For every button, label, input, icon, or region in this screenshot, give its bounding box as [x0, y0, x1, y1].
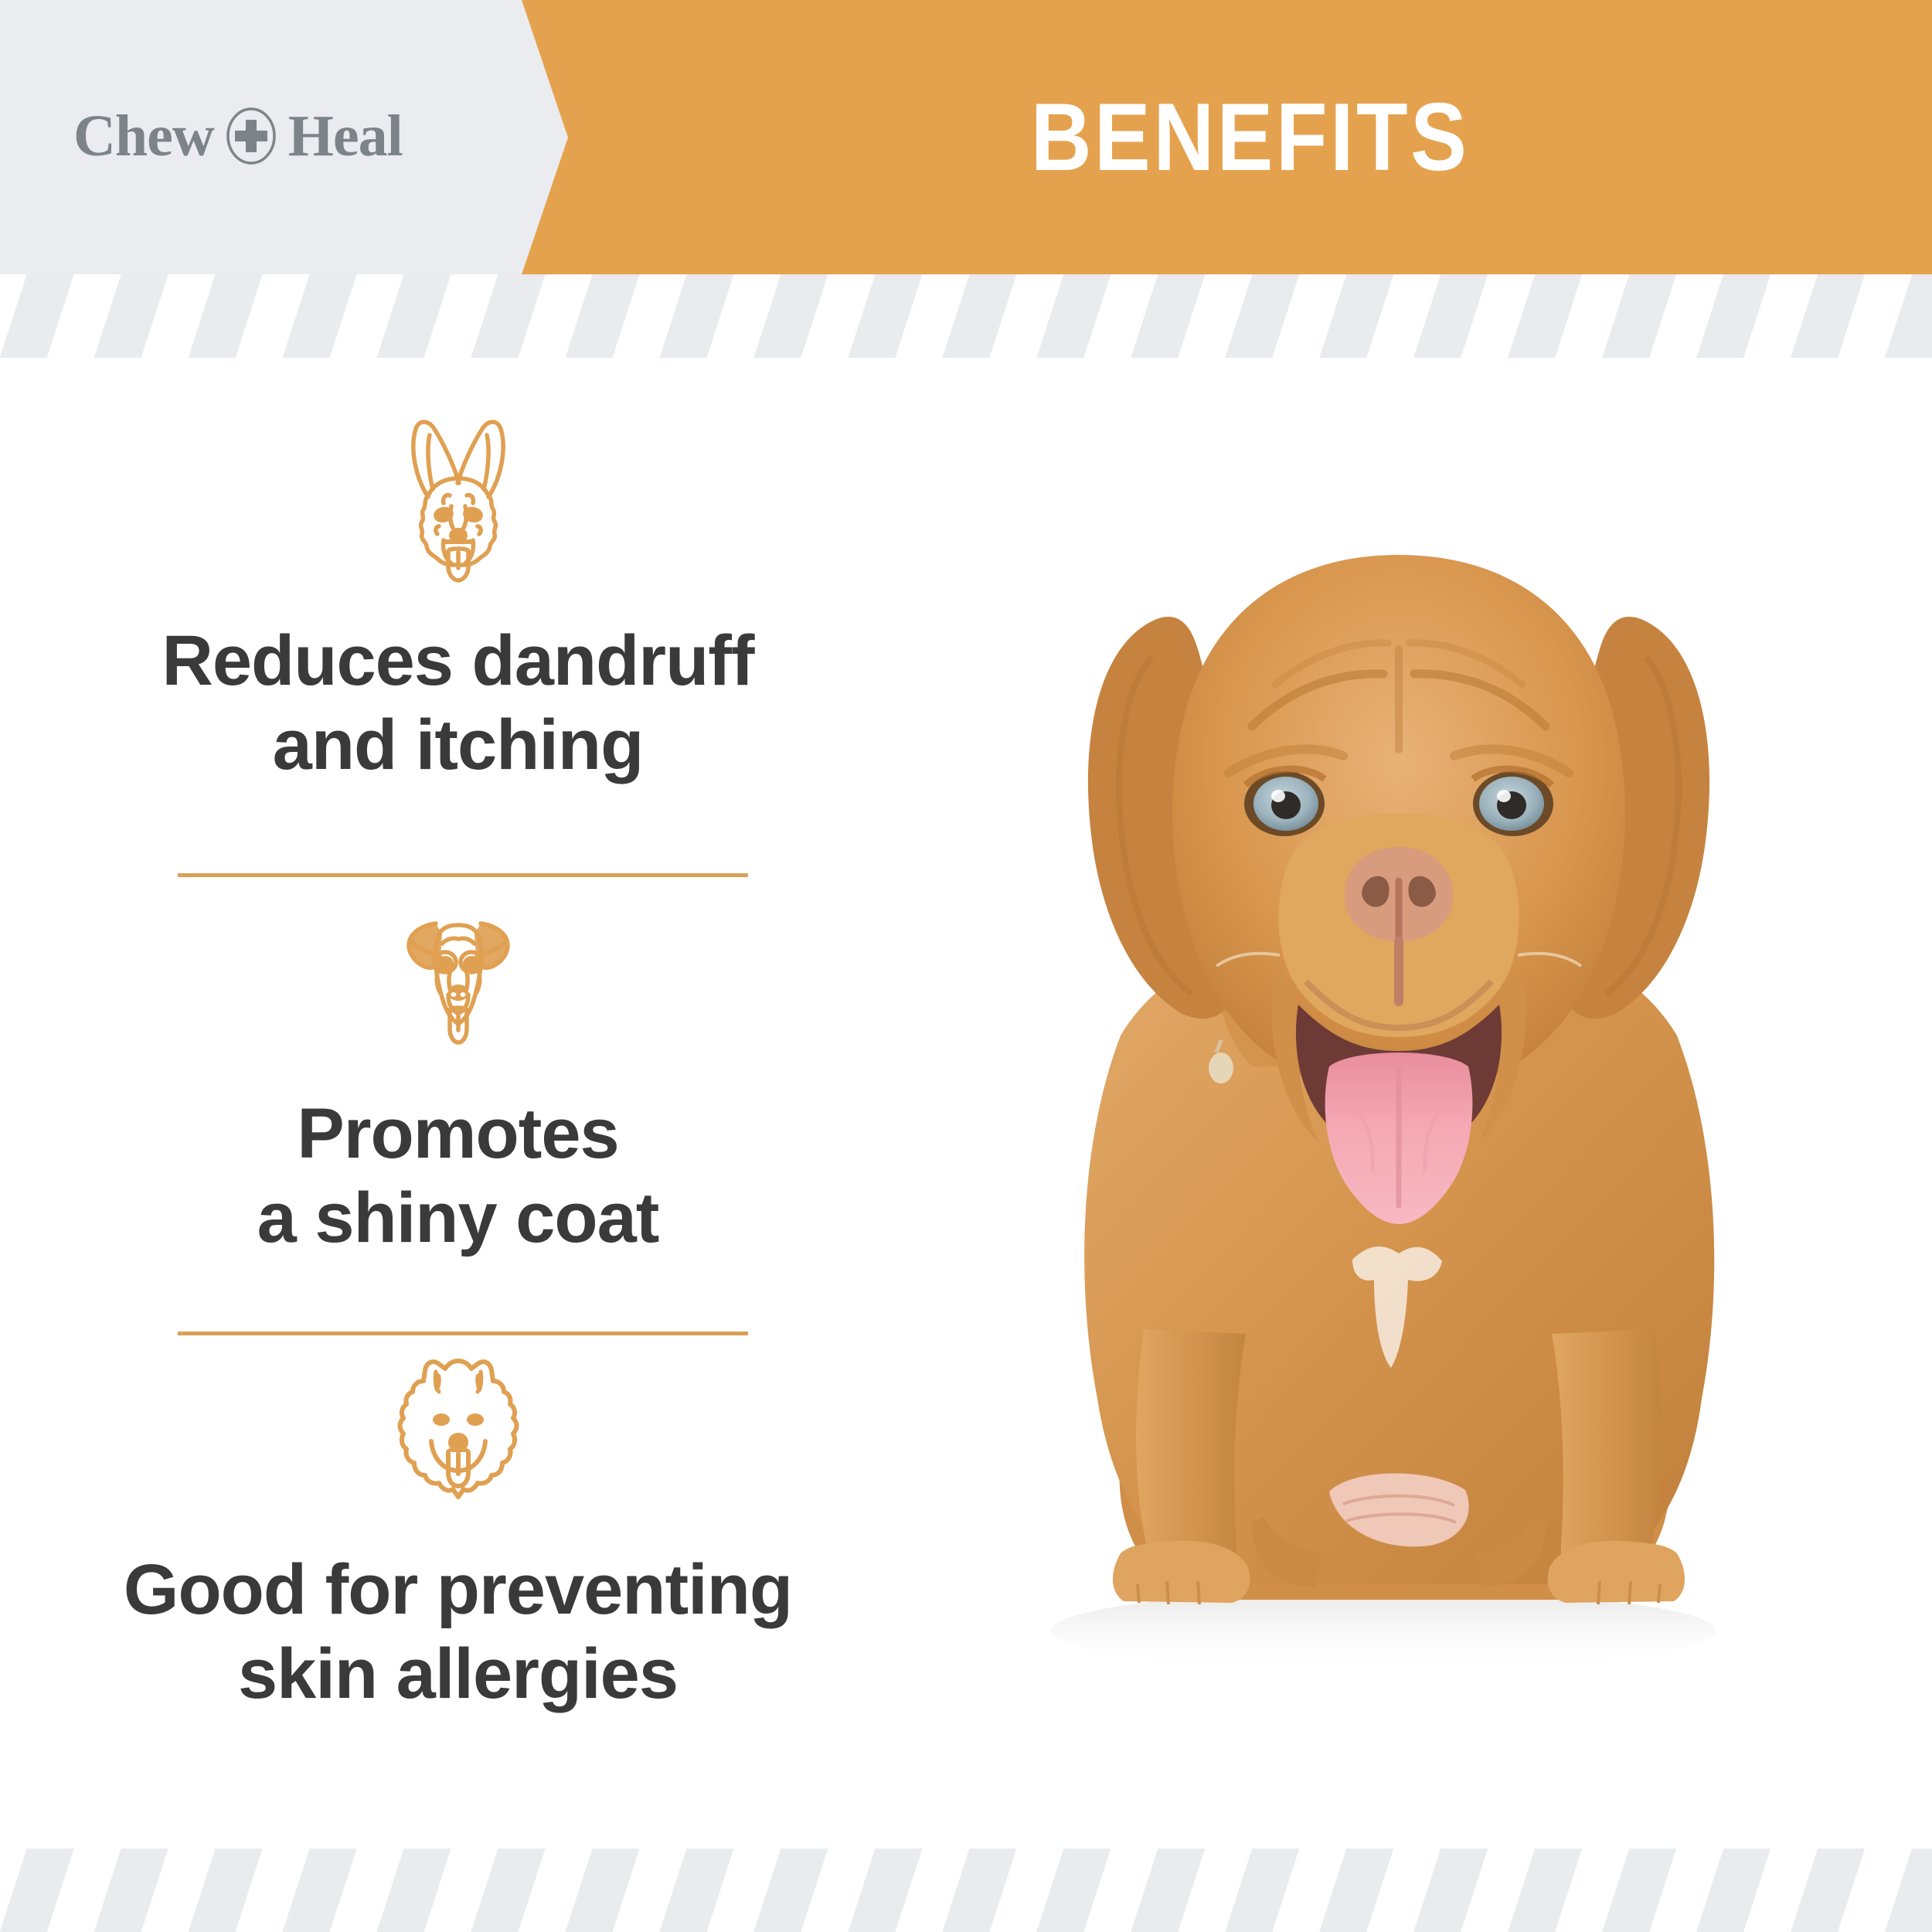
benefit-text-2: Promotes a shiny coat — [31, 1092, 885, 1260]
stripe-band-bottom — [0, 1849, 1932, 1932]
terrier-dog-face-icon — [31, 875, 885, 1072]
benefit-text-1-line2: and itching — [77, 703, 838, 787]
corgi-dog-face-icon — [31, 402, 885, 599]
page-title-text: BENEFITS — [1031, 90, 1470, 185]
benefit-text-2-line1: Promotes — [77, 1092, 838, 1176]
infographic-page: Chew Heal BENEFITS — [0, 0, 1932, 1932]
medical-plus-circle-icon — [222, 107, 281, 165]
benefit-text-3-line2: skin allergies — [77, 1632, 838, 1716]
benefit-text-3-line1: Good for preventing — [77, 1548, 838, 1632]
benefit-item-1: Reduces dandruff and itching — [31, 402, 885, 787]
benefit-text-1-line1: Reduces dandruff — [77, 619, 838, 703]
benefit-text-2-line2: a shiny coat — [77, 1176, 838, 1260]
logo-word-chew: Chew — [73, 107, 214, 165]
brand-logo: Chew Heal — [73, 97, 403, 175]
benefit-text-3: Good for preventing skin allergies — [31, 1548, 885, 1716]
page-title: BENEFITS — [568, 0, 1932, 274]
header-banner: Chew Heal BENEFITS — [0, 0, 1932, 274]
samoyed-dog-face-icon — [31, 1331, 885, 1528]
benefit-item-3: Good for preventing skin allergies — [31, 1331, 885, 1716]
benefit-text-1: Reduces dandruff and itching — [31, 619, 885, 787]
stripe-band-top — [0, 274, 1932, 358]
dogue-de-bordeaux-puppy-photo — [889, 495, 1909, 1808]
logo-word-heal: Heal — [288, 107, 403, 165]
benefit-item-2: Promotes a shiny coat — [31, 875, 885, 1260]
benefits-list: Reduces dandruff and itching — [31, 402, 885, 1816]
